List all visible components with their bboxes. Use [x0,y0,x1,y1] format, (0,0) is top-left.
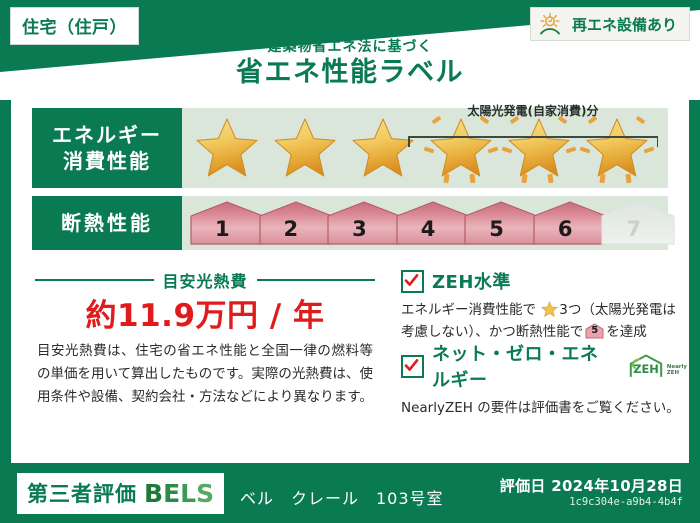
utility-cost-heading: 目安光熱費 [35,268,375,292]
title-group: 建築物省エネ法に基づく 省エネ性能ラベル [0,40,700,90]
house-icon-value: 5 [585,323,604,339]
checkmark-icon [404,273,419,288]
cost-heading-text: 目安光熱費 [163,268,248,292]
insulation-step-number: 1 [215,217,230,246]
insulation-step-number: 4 [421,217,436,246]
zeh-logo-subtext: Nearly ZEH [667,364,687,379]
sparkle-mark [521,174,527,184]
zeh-logo-sub-line2: ZEH [667,370,679,376]
insulation-step-5: 5 [462,200,531,246]
page-title: 省エネ性能ラベル [0,56,700,90]
bels-logo: BELS [144,479,214,508]
bels-japanese-label: 第三者評価 [27,478,137,508]
cost-rule-left [35,279,154,281]
insulation-performance-label: 断熱性能 [32,196,182,250]
net-zero-description: NearlyZEH の要件は評価書をご覧ください。 [401,398,687,420]
insulation-step-number: 7 [626,217,641,246]
star-1 [188,112,266,184]
insulation-step-4: 4 [394,200,463,246]
energy-star-track: 太陽光発電(自家消費)分 [182,108,668,188]
energy-label-line2: 消費性能 [63,148,151,174]
zeh-standard-block: ZEH水準 エネルギー消費性能で 3つ（太陽光発電は考慮しない）、かつ断熱性能で… [401,268,687,344]
net-zero-energy-block: ネット・ゼロ・エネルギー ZEH Nearly ZEH NearlyZEH の要… [401,340,687,420]
insulation-step-number: 2 [284,217,299,246]
building-name: ベル クレール 103号室 [240,485,444,509]
sparkle-mark [443,174,449,184]
energy-performance-label: エネルギー 消費性能 [32,108,182,188]
insulation-rating: 1234567 [182,196,668,250]
insulation-step-number: 6 [558,217,573,246]
insulation-step-1: 1 [188,200,257,246]
utility-cost-note: 目安光熱費は、住宅の省エネ性能と全国一律の燃料等の単価を用いて算出したものです。… [37,340,373,410]
checkmark-icon [404,358,419,373]
renewable-badge-label: 再エネ設備あり [572,14,677,35]
insulation-step-number: 3 [352,217,367,246]
net-zero-heading: ネット・ゼロ・エネルギー ZEH Nearly ZEH [401,340,687,392]
net-zero-title: ネット・ゼロ・エネルギー [432,340,614,392]
zeh-logo: ZEH Nearly ZEH [627,353,687,379]
zeh-checkbox [401,270,424,293]
sparkle-mark [625,174,631,184]
zeh-description: エネルギー消費性能で 3つ（太陽光発電は考慮しない）、かつ断熱性能で 5 を達成 [401,300,687,344]
house-icon: 5 [585,323,604,339]
insulation-step-6: 6 [531,200,600,246]
solar-bracket [408,118,658,138]
evaluation-id: 1c9c304e-a9b4-4b4f [569,496,683,508]
label-footer: 第三者評価 BELS ベル クレール 103号室 評価日 2024年10月28日… [0,465,700,523]
cost-rule-right [257,279,376,281]
zeh-desc-part2: を達成 [606,324,647,340]
insulation-step-3: 3 [325,200,394,246]
zeh-title: ZEH水準 [432,268,511,294]
housing-type-badge: 住宅（住戸） [10,7,139,45]
sparkle-mark [547,174,553,184]
renewable-equipment-badge: 再エネ設備あり [530,7,690,41]
star-icon [271,116,339,180]
insulation-label-text: 断熱性能 [61,210,153,236]
svg-text:ZEH: ZEH [633,362,659,376]
evaluation-date: 評価日 2024年10月28日 [500,475,683,496]
insulation-performance-row: 断熱性能 1234567 [32,196,668,250]
energy-performance-label: 住宅（住戸） 再エネ設備あり 建築物省エネ法に基づく 省エネ性能ラベル [0,0,700,523]
zeh-heading: ZEH水準 [401,268,687,294]
sparkle-mark [469,174,475,184]
zeh-desc-part1: エネルギー消費性能で [401,302,536,318]
star-icon [193,116,261,180]
sparkle-mark [599,174,605,184]
zeh-house-logo-icon: ZEH [627,353,665,379]
insulation-house-track: 1234567 [182,196,668,250]
star-icon [349,116,417,180]
zeh-logo-sub-line1: Nearly [667,364,687,370]
bels-badge: 第三者評価 BELS [17,473,224,514]
star-2 [266,112,344,184]
label-body: エネルギー 消費性能 太陽光発電(自家消費)分 断熱性能 1234567 [11,100,689,463]
sun-solar-icon [539,12,565,36]
insulation-step-2: 2 [257,200,326,246]
insulation-step-7: 7 [599,200,668,246]
energy-label-line1: エネルギー [52,122,162,148]
star-icon [541,301,558,317]
energy-performance-row: エネルギー 消費性能 太陽光発電(自家消費)分 [32,108,668,188]
insulation-step-number: 5 [489,217,504,246]
net-zero-checkbox [401,355,424,378]
utility-cost-value: 約11.9万円 / 年 [35,290,375,335]
solar-bracket-caption: 太陽光発電(自家消費)分 [408,102,658,119]
